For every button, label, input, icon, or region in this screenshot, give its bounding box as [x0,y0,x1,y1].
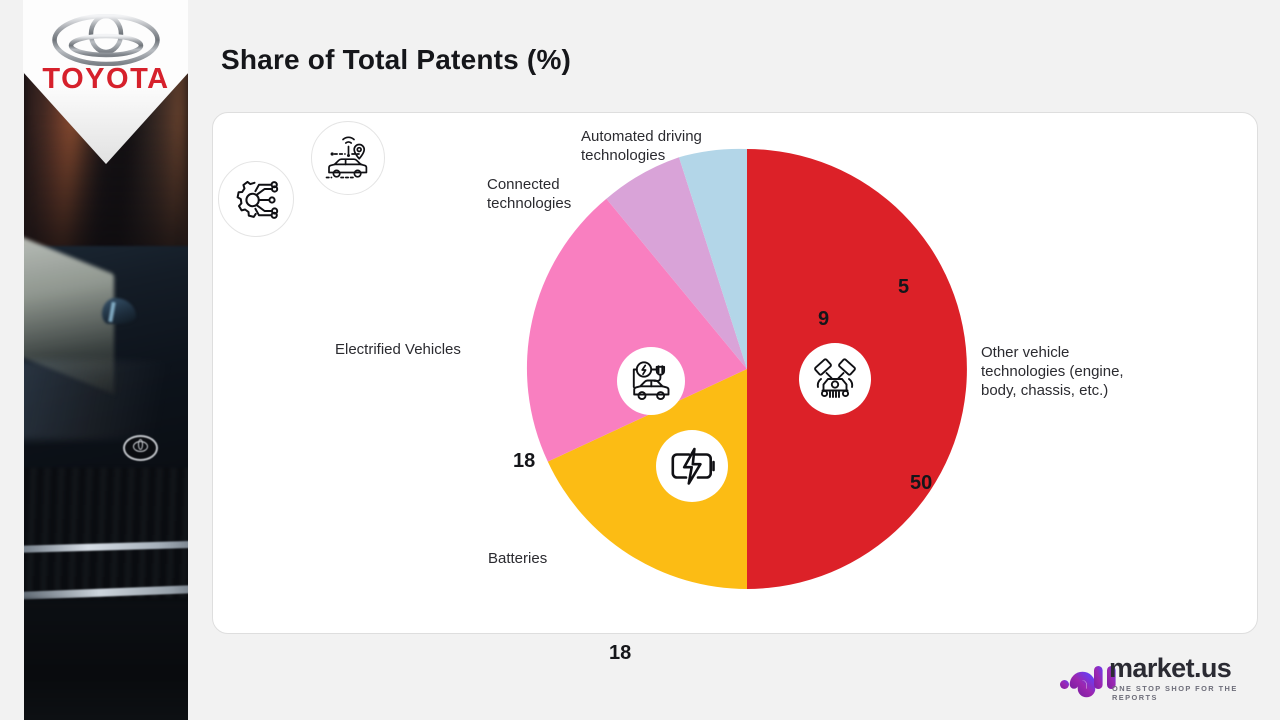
engine-pistons-icon [799,343,871,415]
toyota-logo-icon [52,14,160,66]
brand-name: market.us [1109,653,1231,684]
label-line: technologies [581,146,756,165]
label-line: Other vehicle [981,343,1171,362]
car-lower-bumper [24,600,188,720]
slice-value-automated-driving-technologies: 5 [898,276,909,299]
slice-value-batteries: 18 [609,642,631,665]
toyota-wordmark: TOYOTA [23,63,188,96]
sidebar: TOYOTA [0,0,188,720]
gear-circuit-icon [218,161,294,237]
category-label-other-vehicle-technologies: Other vehicle technologies (engine, body… [981,343,1171,400]
car-hood-reflection [24,360,188,440]
category-label-electrified-vehicles: Electrified Vehicles [335,340,505,359]
pie-chart: 50 5 9 18 18 Other vehicle technologies … [213,113,1257,633]
slice-value-connected-technologies: 9 [818,308,829,331]
car-grille [24,468,188,598]
label-line: technologies [487,194,607,213]
slice-value-electrified-vehicles: 18 [513,450,535,473]
label-line: Batteries [488,549,608,568]
chart-card: 50 5 9 18 18 Other vehicle technologies … [212,112,1258,634]
category-label-connected-technologies: Connected technologies [487,175,607,213]
label-line: Connected [487,175,607,194]
label-line: Automated driving [581,127,756,146]
label-line: Electrified Vehicles [335,340,505,359]
connected-car-sensor-icon [311,121,385,195]
battery-bolt-icon [656,430,728,502]
label-line: technologies (engine, [981,362,1171,381]
ev-charging-car-icon [617,347,685,415]
category-label-batteries: Batteries [488,549,608,568]
brand-tagline: ONE STOP SHOP FOR THE REPORTS [1112,684,1280,702]
category-label-automated-driving-technologies: Automated driving technologies [581,127,756,165]
page-title: Share of Total Patents (%) [221,44,571,76]
label-line: body, chassis, etc.) [981,381,1171,400]
slice-value-other-vehicle-technologies: 50 [910,472,932,495]
toyota-emblem-icon [123,435,158,461]
main-content: Share of Total Patents (%) 50 5 9 18 18 [188,0,1280,720]
